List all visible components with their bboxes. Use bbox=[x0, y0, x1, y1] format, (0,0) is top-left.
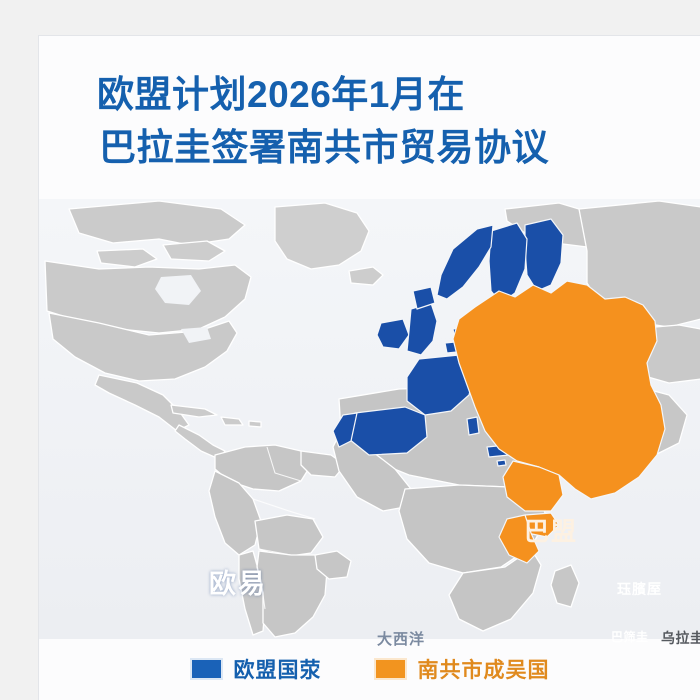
map-label-atlantic-ocean: 大西洋 bbox=[377, 628, 425, 649]
title-line-1: 欧盟计划2026年1月在 bbox=[97, 69, 700, 122]
map-label-eu: 欧易 bbox=[209, 562, 267, 601]
country-italy-sardinia bbox=[467, 417, 479, 435]
land-caribbean-puertorico bbox=[249, 421, 261, 427]
title-line-2: 巴拉圭签署南共市贸易协议 bbox=[99, 122, 700, 175]
country-malta bbox=[497, 460, 506, 466]
page-background: 欧盟计划2026年1月在 巴拉圭签署南共市贸易协议 bbox=[0, 0, 700, 700]
map-label-uruguay: 乌拉圭 bbox=[661, 628, 700, 648]
legend-item-mercosur: 南共市成吴国 bbox=[374, 654, 550, 684]
legend: 欧盟国荥 南共市成吴国 bbox=[39, 648, 700, 690]
legend-swatch-blue bbox=[190, 658, 223, 680]
map-label-brazil: 巴盟 bbox=[524, 512, 578, 548]
legend-swatch-orange bbox=[374, 658, 407, 680]
map-label-paraguay-inland: 珏臏厔 bbox=[617, 579, 662, 599]
page-title: 欧盟计划2026年1月在 巴拉圭签署南共市贸易协议 bbox=[97, 69, 700, 174]
legend-item-eu: 欧盟国荥 bbox=[190, 654, 322, 684]
infographic-card: 欧盟计划2026年1月在 巴拉圭签署南共市贸易协议 bbox=[38, 35, 700, 700]
legend-label-mercosur: 南共市成吴国 bbox=[418, 654, 550, 684]
legend-label-eu: 欧盟国荥 bbox=[234, 654, 322, 684]
world-map: 欧易 巴盟 珏臏厔 巴筛圭 乌拉圭 大西洋 bbox=[39, 199, 700, 639]
world-map-svg bbox=[39, 199, 700, 639]
map-label-paraguay-small: 巴筛圭 bbox=[611, 628, 649, 645]
